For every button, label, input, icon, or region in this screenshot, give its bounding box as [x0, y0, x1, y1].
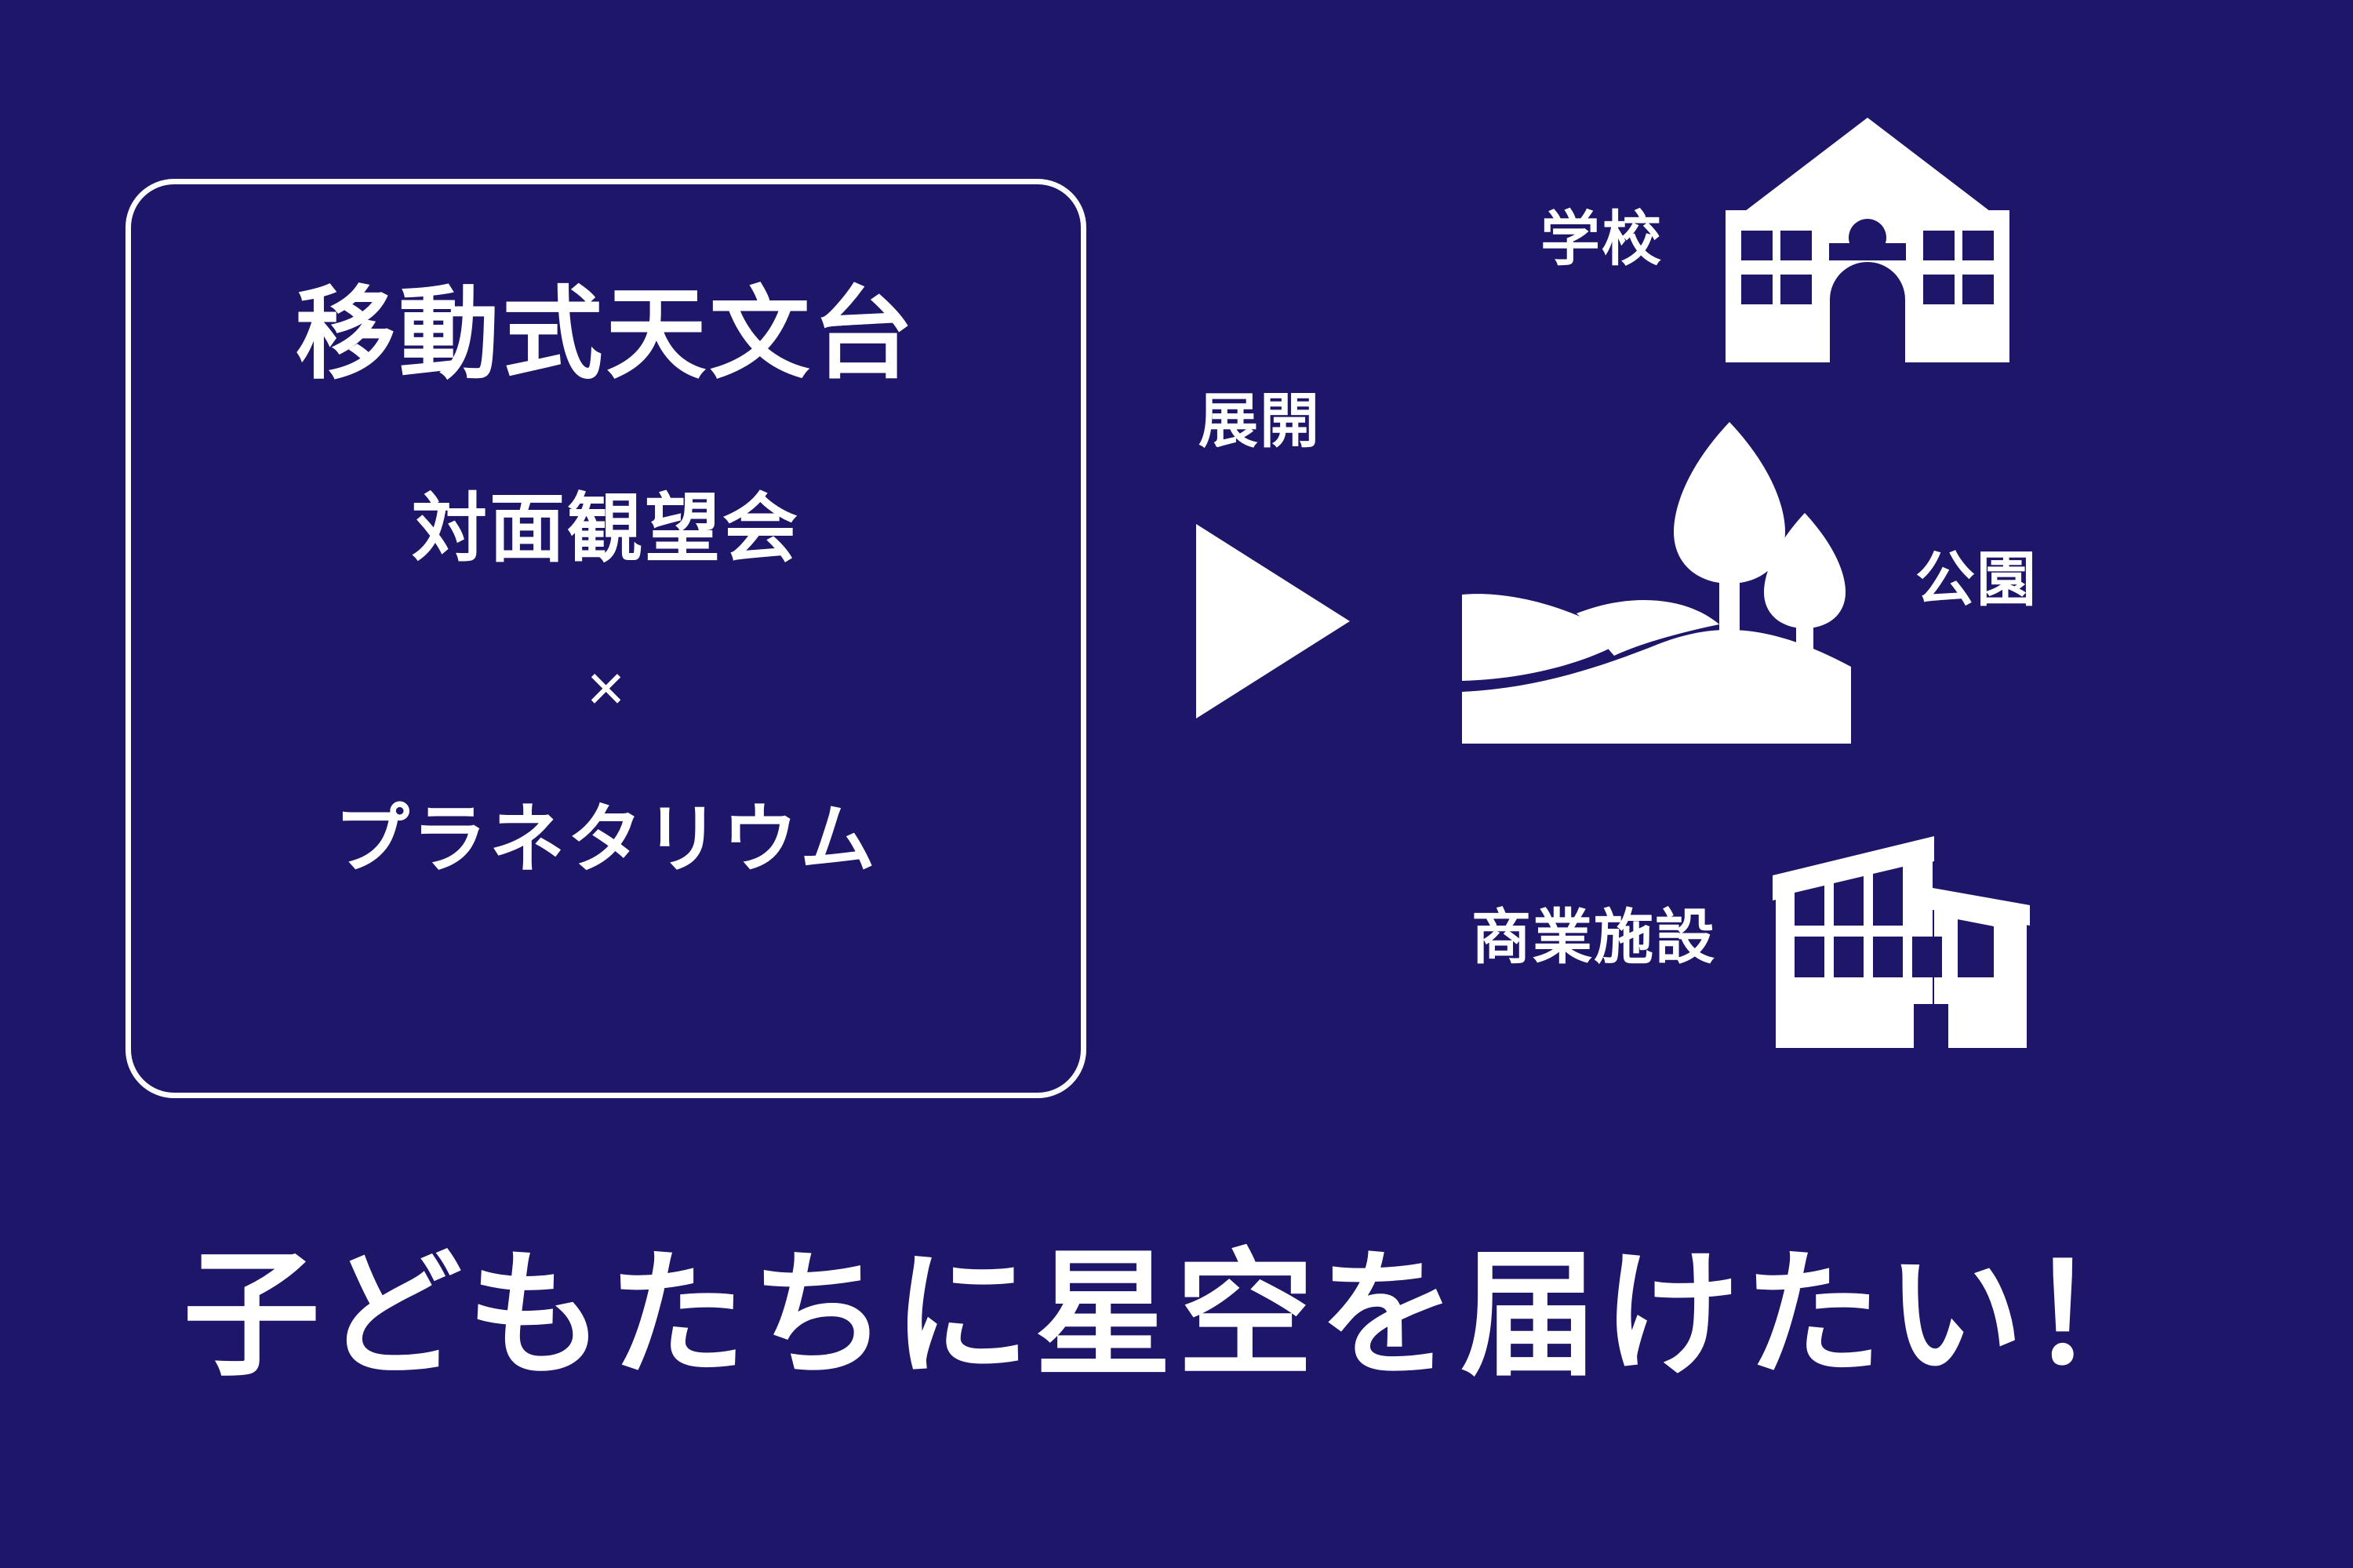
destination-commercial-facility: 商業施設 [1471, 816, 2066, 1060]
school-building-icon [1726, 118, 2009, 362]
park-hills-trees-icon [1460, 416, 1853, 745]
destination-school: 学校 [1540, 118, 2009, 362]
destination-commercial-facility-label: 商業施設 [1471, 908, 1716, 968]
tagline: 子どもたちに星空を届けたい！ [0, 1235, 2353, 1398]
destination-park: 公園 [1460, 416, 2038, 745]
destination-school-label: 学校 [1540, 210, 1663, 270]
combinator-symbol: × [587, 655, 625, 721]
destination-park-label: 公園 [1915, 551, 2038, 610]
triangle-right-icon [1196, 524, 1350, 719]
card-subtitle-primary: 対面観望会 [412, 492, 800, 567]
card-subtitle-secondary: プラネタリウム [334, 802, 878, 878]
offering-card: 移動式天文台 対面観望会 × プラネタリウム [125, 179, 1086, 1098]
card-title: 移動式天文台 [295, 285, 916, 385]
commercial-building-icon [1768, 816, 2066, 1060]
deploy-label: 展開 [1198, 392, 1321, 452]
